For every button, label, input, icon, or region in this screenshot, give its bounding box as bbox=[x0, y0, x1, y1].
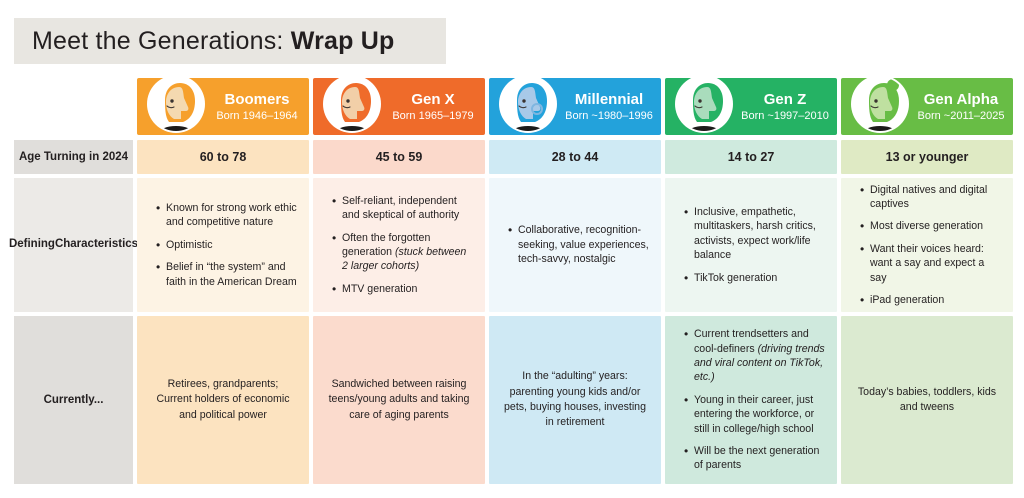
characteristics-list-boomers: Known for strong work ethic and competit… bbox=[137, 201, 309, 289]
age-cell-genalpha: 13 or younger bbox=[841, 140, 1013, 174]
list-item: Collaborative, recognition-seeking, valu… bbox=[509, 223, 651, 266]
currently-cell-millennial: In the “adulting” years: parenting young… bbox=[489, 316, 661, 484]
age-cell-genz: 14 to 27 bbox=[665, 140, 837, 174]
characteristics-cell-genalpha: Digital natives and digital captivesMost… bbox=[841, 178, 1013, 312]
characteristics-list-genalpha: Digital natives and digital captivesMost… bbox=[841, 183, 1013, 308]
title-band: Meet the Generations: Wrap Up bbox=[14, 18, 446, 64]
row-label-currently: Currently... bbox=[14, 316, 133, 484]
page-title-bold: Wrap Up bbox=[291, 27, 395, 55]
infographic-root: Meet the Generations: Wrap Up Age Turnin… bbox=[0, 0, 1024, 498]
list-item: Digital natives and digital captives bbox=[861, 183, 1003, 212]
generation-born-years: Born ~1980–1996 bbox=[565, 110, 653, 123]
list-item: Most diverse generation bbox=[861, 219, 1003, 233]
characteristics-list-millennial: Collaborative, recognition-seeking, valu… bbox=[489, 223, 661, 266]
generation-name: Boomers bbox=[224, 91, 289, 108]
characteristics-list-genz: Inclusive, empathetic, multitaskers, har… bbox=[665, 205, 837, 285]
currently-text-millennial: In the “adulting” years: parenting young… bbox=[489, 369, 661, 430]
list-item: MTV generation bbox=[333, 282, 475, 296]
generation-header-genz: Gen Z Born ~1997–2010 bbox=[665, 78, 837, 135]
currently-cell-genx: Sandwiched between raising teens/young a… bbox=[313, 316, 485, 484]
characteristics-cell-millennial: Collaborative, recognition-seeking, valu… bbox=[489, 178, 661, 312]
currently-text-genalpha: Today’s babies, toddlers, kids and tween… bbox=[841, 385, 1013, 416]
list-item: Young in their career, just entering the… bbox=[685, 393, 827, 436]
list-item: Want their voices heard: want a say and … bbox=[861, 242, 1003, 285]
currently-text-genx: Sandwiched between raising teens/young a… bbox=[313, 377, 485, 423]
genz-person-avatar-icon bbox=[673, 73, 735, 135]
list-item: Known for strong work ethic and competit… bbox=[157, 201, 299, 230]
row-label-characteristics: Defining Characteristics bbox=[14, 178, 133, 312]
list-item: Often the forgotten generation (stuck be… bbox=[333, 231, 475, 274]
currently-cell-genz: Current trendsetters and cool-definers (… bbox=[665, 316, 837, 484]
list-item: Optimistic bbox=[157, 238, 299, 252]
generation-born-years: Born 1965–1979 bbox=[392, 110, 473, 123]
generation-name: Gen Alpha bbox=[924, 91, 998, 108]
list-item: Will be the next generation of parents bbox=[685, 444, 827, 473]
generation-header-boomers: Boomers Born 1946–1964 bbox=[137, 78, 309, 135]
generation-header-text-genx: Gen X Born 1965–1979 bbox=[387, 91, 479, 123]
currently-text-boomers: Retirees, grandparents; Current holders … bbox=[137, 377, 309, 423]
generation-header-millennial: Millennial Born ~1980–1996 bbox=[489, 78, 661, 135]
list-item: Belief in “the system” and faith in the … bbox=[157, 260, 299, 289]
generation-header-text-genalpha: Gen Alpha Born ~2011–2025 bbox=[915, 91, 1007, 123]
row-label-age: Age Turning in 2024 bbox=[14, 140, 133, 174]
generation-header-text-boomers: Boomers Born 1946–1964 bbox=[211, 91, 303, 123]
generation-born-years: Born ~1997–2010 bbox=[741, 110, 829, 123]
list-item: TikTok generation bbox=[685, 271, 827, 285]
characteristics-cell-boomers: Known for strong work ethic and competit… bbox=[137, 178, 309, 312]
generation-header-genx: Gen X Born 1965–1979 bbox=[313, 78, 485, 135]
generation-header-text-millennial: Millennial Born ~1980–1996 bbox=[563, 91, 655, 123]
age-cell-genx: 45 to 59 bbox=[313, 140, 485, 174]
generation-name: Millennial bbox=[575, 91, 643, 108]
list-item: Inclusive, empathetic, multitaskers, har… bbox=[685, 205, 827, 263]
boomer-woman-avatar-icon bbox=[145, 73, 207, 135]
millennial-woman-avatar-icon bbox=[497, 73, 559, 135]
list-item: Current trendsetters and cool-definers (… bbox=[685, 327, 827, 385]
characteristics-list-genx: Self-reliant, independent and skeptical … bbox=[313, 194, 485, 296]
currently-list-genz: Current trendsetters and cool-definers (… bbox=[665, 327, 837, 473]
generation-header-genalpha: Gen Alpha Born ~2011–2025 bbox=[841, 78, 1013, 135]
generation-name: Gen X bbox=[411, 91, 454, 108]
list-item: iPad generation bbox=[861, 293, 1003, 307]
row-label-characteristics-line2: Characteristics bbox=[55, 237, 138, 253]
age-cell-millennial: 28 to 44 bbox=[489, 140, 661, 174]
currently-cell-boomers: Retirees, grandparents; Current holders … bbox=[137, 316, 309, 484]
characteristics-cell-genx: Self-reliant, independent and skeptical … bbox=[313, 178, 485, 312]
generation-born-years: Born ~2011–2025 bbox=[918, 110, 1005, 123]
generation-header-text-genz: Gen Z Born ~1997–2010 bbox=[739, 91, 831, 123]
row-label-characteristics-line1: Defining bbox=[9, 237, 55, 253]
age-cell-boomers: 60 to 78 bbox=[137, 140, 309, 174]
list-item: Self-reliant, independent and skeptical … bbox=[333, 194, 475, 223]
generation-born-years: Born 1946–1964 bbox=[216, 110, 297, 123]
page-title: Meet the Generations: Wrap Up bbox=[14, 27, 394, 56]
page-title-lead: Meet the Generations: bbox=[32, 27, 291, 55]
characteristics-cell-genz: Inclusive, empathetic, multitaskers, har… bbox=[665, 178, 837, 312]
genx-man-avatar-icon bbox=[321, 73, 383, 135]
generations-grid: Age Turning in 2024 Defining Characteris… bbox=[14, 78, 1010, 484]
generation-name: Gen Z bbox=[764, 91, 807, 108]
currently-cell-genalpha: Today’s babies, toddlers, kids and tween… bbox=[841, 316, 1013, 484]
genalpha-girl-avatar-icon bbox=[849, 73, 911, 135]
